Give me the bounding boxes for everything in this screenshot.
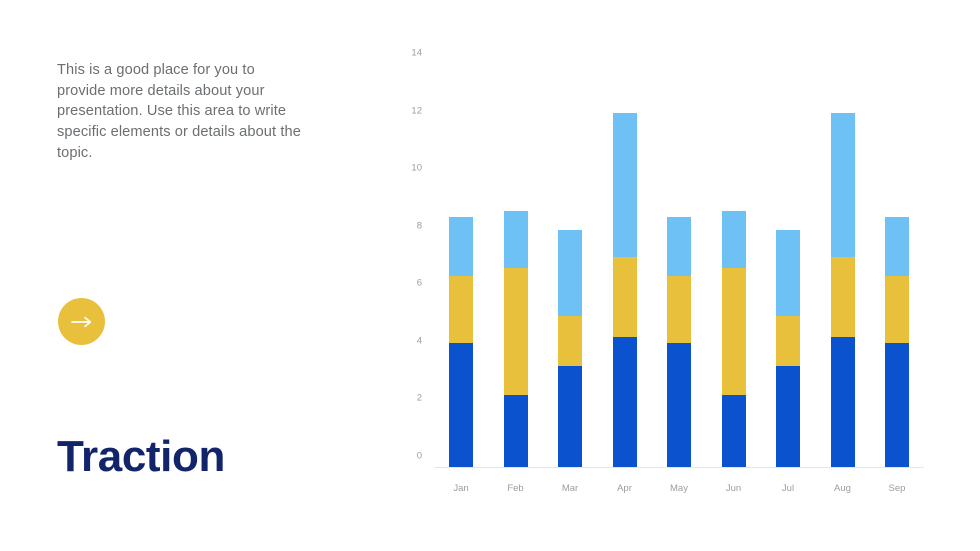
bar-segment[interactable]: [667, 343, 691, 467]
bar-stack[interactable]: [504, 211, 528, 467]
y-tick-label: 8: [417, 220, 422, 231]
bar-stack[interactable]: [722, 211, 746, 467]
y-tick-label: 2: [417, 393, 422, 404]
x-tick-label: May: [652, 483, 706, 494]
bar-group[interactable]: [652, 50, 706, 467]
x-tick-label: Mar: [543, 483, 597, 494]
bar-segment[interactable]: [776, 316, 800, 366]
arrow-right-icon: [71, 316, 93, 328]
bar-segment[interactable]: [885, 343, 909, 467]
x-tick-label: Jul: [761, 483, 815, 494]
x-tick-label: Apr: [598, 483, 652, 494]
bar-segment[interactable]: [885, 217, 909, 276]
bar-segment[interactable]: [449, 343, 473, 467]
bar-segment[interactable]: [558, 230, 582, 316]
bar-segment[interactable]: [885, 276, 909, 344]
x-tick-label: Aug: [816, 483, 870, 494]
bar-segment[interactable]: [613, 257, 637, 338]
x-tick-label: Sep: [870, 483, 924, 494]
y-tick-label: 14: [411, 48, 422, 59]
next-arrow-button[interactable]: [58, 298, 105, 345]
bar-segment[interactable]: [558, 316, 582, 366]
bar-group[interactable]: [816, 50, 870, 467]
bar-group[interactable]: [489, 50, 543, 467]
bar-stack[interactable]: [831, 113, 855, 467]
bar-segment[interactable]: [831, 337, 855, 467]
y-tick-label: 4: [417, 335, 422, 346]
bar-group[interactable]: [598, 50, 652, 467]
bar-segment[interactable]: [504, 395, 528, 467]
y-tick-label: 12: [411, 105, 422, 116]
bar-segment[interactable]: [613, 113, 637, 257]
bar-segment[interactable]: [776, 366, 800, 467]
bar-segment[interactable]: [504, 268, 528, 395]
bar-segment[interactable]: [667, 276, 691, 344]
page-title: Traction: [57, 435, 225, 479]
stacked-bar-chart: 02468101214 JanFebMarAprMayJunJulAugSep: [398, 50, 938, 500]
axis-baseline: [434, 467, 924, 468]
y-tick-label: 6: [417, 278, 422, 289]
bar-segment[interactable]: [449, 217, 473, 276]
bar-group[interactable]: [707, 50, 761, 467]
bar-segment[interactable]: [449, 276, 473, 344]
bar-stack[interactable]: [667, 217, 691, 467]
bar-stack[interactable]: [613, 113, 637, 467]
bar-segment[interactable]: [722, 211, 746, 269]
bar-group[interactable]: [870, 50, 924, 467]
y-axis: 02468101214: [398, 50, 428, 500]
bar-segment[interactable]: [667, 217, 691, 276]
bar-stack[interactable]: [776, 230, 800, 467]
bar-segment[interactable]: [722, 268, 746, 395]
bar-series-container: [434, 50, 924, 467]
bar-stack[interactable]: [449, 217, 473, 467]
x-tick-label: Feb: [489, 483, 543, 494]
plot-region: JanFebMarAprMayJunJulAugSep: [434, 50, 924, 500]
bar-stack[interactable]: [558, 230, 582, 467]
x-tick-label: Jan: [434, 483, 488, 494]
y-tick-label: 0: [417, 451, 422, 462]
bar-group[interactable]: [761, 50, 815, 467]
slide-traction: This is a good place for you to provide …: [0, 0, 980, 551]
bar-segment[interactable]: [613, 337, 637, 467]
bar-segment[interactable]: [504, 211, 528, 269]
body-paragraph: This is a good place for you to provide …: [57, 60, 307, 164]
bar-group[interactable]: [543, 50, 597, 467]
bar-stack[interactable]: [885, 217, 909, 467]
x-tick-label: Jun: [707, 483, 761, 494]
bar-segment[interactable]: [776, 230, 800, 316]
bar-segment[interactable]: [831, 257, 855, 338]
bar-segment[interactable]: [558, 366, 582, 467]
y-tick-label: 10: [411, 163, 422, 174]
bar-segment[interactable]: [831, 113, 855, 257]
bar-group[interactable]: [434, 50, 488, 467]
bar-segment[interactable]: [722, 395, 746, 467]
x-axis-labels: JanFebMarAprMayJunJulAugSep: [434, 483, 924, 494]
left-content-panel: This is a good place for you to provide …: [57, 60, 327, 490]
